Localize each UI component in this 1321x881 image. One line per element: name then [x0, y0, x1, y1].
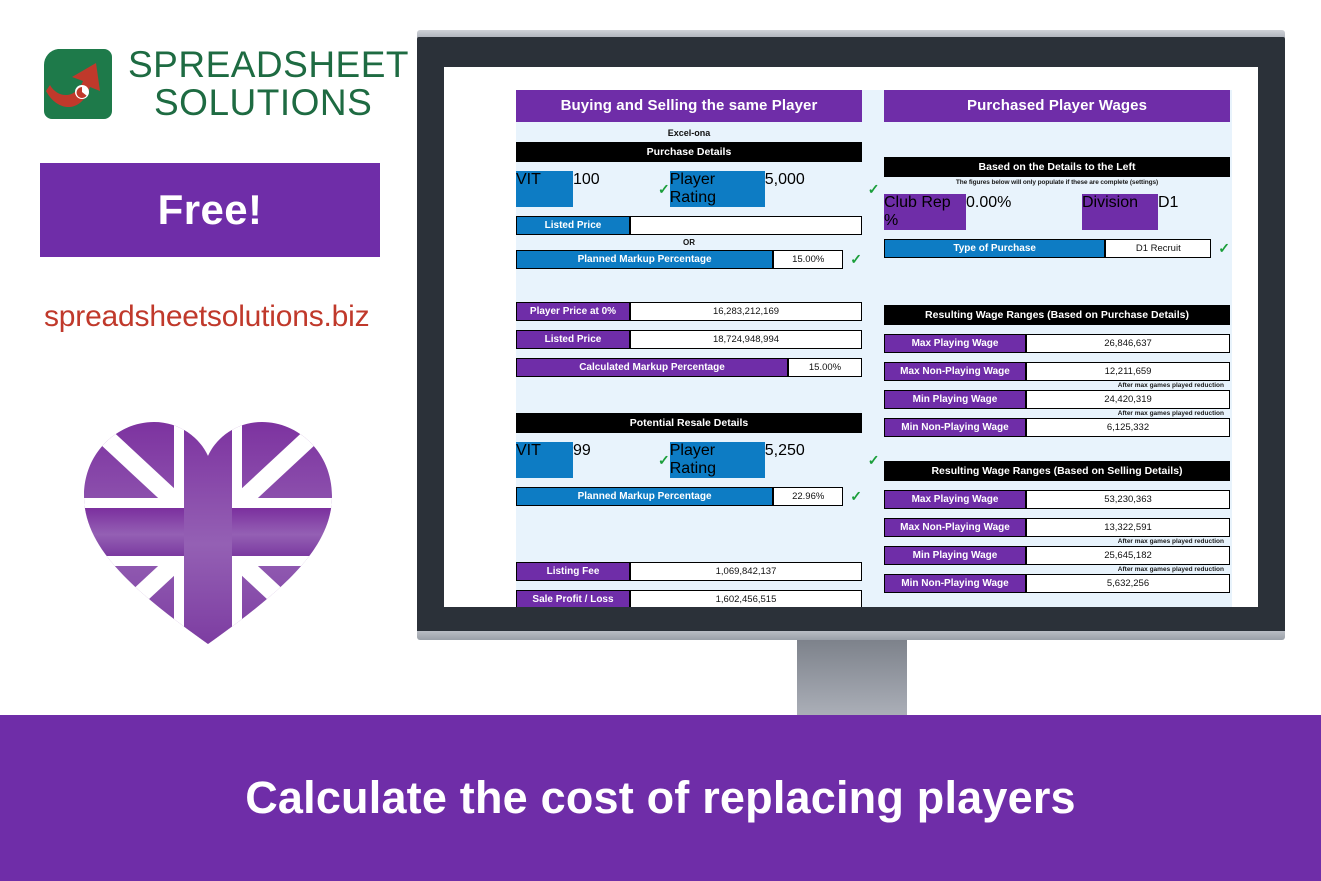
table-row: Min Playing Wage 24,420,319 [884, 390, 1230, 409]
resale-markup-label: Planned Markup Percentage [516, 487, 773, 506]
or-separator: OR [516, 235, 862, 248]
sell-min-playing-wage-value: 25,645,182 [1026, 546, 1230, 565]
bottom-banner: Calculate the cost of replacing players [0, 715, 1321, 881]
promo-column: SPREADSHEET SOLUTIONS Free! spreadsheets… [0, 0, 400, 715]
reduction-note: After max games played reduction [884, 409, 1230, 418]
type-of-purchase-check-icon: ✓ [1211, 239, 1230, 258]
sell-max-non-playing-wage-value: 13,322,591 [1026, 518, 1230, 537]
panel-purchased-player-wages: Purchased Player Wages Based on the Deta… [884, 90, 1230, 593]
sell-max-playing-wage-value: 53,230,363 [1026, 490, 1230, 509]
club-rep-value[interactable]: 0.00% [966, 194, 1035, 230]
max-playing-wage-label: Max Playing Wage [884, 334, 1026, 353]
left-panel-title: Buying and Selling the same Player [516, 90, 862, 122]
resale-vit-check-icon: ✓ [651, 442, 670, 478]
bottom-banner-headline: Calculate the cost of replacing players [245, 772, 1076, 824]
type-of-purchase-row: Type of Purchase D1 Recruit ✓ [884, 239, 1230, 258]
table-row: Max Playing Wage 53,230,363 [884, 490, 1230, 509]
max-non-playing-wage-label: Max Non-Playing Wage [884, 362, 1026, 381]
table-row: Max Playing Wage 26,846,637 [884, 334, 1230, 353]
listed-price-row: Listed Price [516, 216, 862, 235]
sell-max-non-playing-wage-label: Max Non-Playing Wage [884, 518, 1026, 537]
planned-markup-label: Planned Markup Percentage [516, 250, 773, 269]
player-rating-label: Player Rating [670, 171, 765, 207]
player-price-value: 16,283,212,169 [630, 302, 862, 321]
calculated-markup-value: 15.00% [788, 358, 862, 377]
monitor-bottom-edge [417, 631, 1285, 640]
planned-markup-value[interactable]: 15.00% [773, 250, 843, 269]
player-rating-value[interactable]: 5,000 [765, 171, 861, 207]
table-row: Max Non-Playing Wage 12,211,659 [884, 362, 1230, 381]
right-panel-title: Purchased Player Wages [884, 90, 1230, 122]
listing-fee-value: 1,069,842,137 [630, 562, 862, 581]
club-rep-division-row: Club Rep % 0.00% Division D1 [884, 194, 1230, 230]
player-rating-check-icon: ✓ [861, 171, 880, 207]
listing-fee-label: Listing Fee [516, 562, 630, 581]
listed-price-value[interactable] [630, 216, 862, 235]
purchase-wage-ranges-header: Resulting Wage Ranges (Based on Purchase… [884, 305, 1230, 325]
planned-markup-row: Planned Markup Percentage 15.00% ✓ [516, 250, 862, 269]
sell-min-non-playing-wage-value: 5,632,256 [1026, 574, 1230, 593]
listed-price-result-row: Listed Price 18,724,948,994 [516, 330, 862, 349]
brand-name-line2: SOLUTIONS [128, 84, 409, 122]
min-playing-wage-value: 24,420,319 [1026, 390, 1230, 409]
resale-vit-rating-row: VIT 99 ✓ Player Rating 5,250 ✓ [516, 442, 862, 478]
reduction-note: After max games played reduction [884, 537, 1230, 546]
resale-rating-value[interactable]: 5,250 [765, 442, 861, 478]
monitor: Buying and Selling the same Player Excel… [417, 30, 1285, 645]
planned-markup-check-icon: ✓ [843, 250, 862, 269]
vit-label: VIT [516, 171, 573, 207]
listed-price-result-label: Listed Price [516, 330, 630, 349]
min-non-playing-wage-value: 6,125,332 [1026, 418, 1230, 437]
spreadsheet: Buying and Selling the same Player Excel… [516, 90, 1232, 607]
purchase-vit-rating-row: VIT 100 ✓ Player Rating 5,000 ✓ [516, 171, 862, 207]
table-row: Min Non-Playing Wage 5,632,256 [884, 574, 1230, 593]
panel-buying-selling: Buying and Selling the same Player Excel… [516, 90, 862, 607]
resale-markup-check-icon: ✓ [843, 487, 862, 506]
sale-profit-label: Sale Profit / Loss [516, 590, 630, 607]
player-price-row: Player Price at 0% 16,283,212,169 [516, 302, 862, 321]
sale-profit-row: Sale Profit / Loss 1,602,456,515 [516, 590, 862, 607]
reduction-note: After max games played reduction [884, 381, 1230, 390]
calculated-markup-label: Calculated Markup Percentage [516, 358, 788, 377]
resale-vit-label: VIT [516, 442, 573, 478]
union-jack-heart-icon [78, 412, 338, 652]
populate-note: The figures below will only populate if … [884, 177, 1230, 187]
division-label: Division [1082, 194, 1158, 230]
resale-markup-value[interactable]: 22.96% [773, 487, 843, 506]
resale-vit-value[interactable]: 99 [573, 442, 651, 478]
listed-price-result-value: 18,724,948,994 [630, 330, 862, 349]
vit-check-icon: ✓ [651, 171, 670, 207]
table-row: Max Non-Playing Wage 13,322,591 [884, 518, 1230, 537]
division-value[interactable]: D1 [1158, 194, 1230, 230]
sell-min-playing-wage-label: Min Playing Wage [884, 546, 1026, 565]
vit-value[interactable]: 100 [573, 171, 651, 207]
table-row: Min Non-Playing Wage 6,125,332 [884, 418, 1230, 437]
based-on-details-header: Based on the Details to the Left [884, 157, 1230, 177]
selling-wage-ranges-header: Resulting Wage Ranges (Based on Selling … [884, 461, 1230, 481]
type-of-purchase-label: Type of Purchase [884, 239, 1105, 258]
max-playing-wage-value: 26,846,637 [1026, 334, 1230, 353]
reduction-note: After max games played reduction [884, 565, 1230, 574]
website-url[interactable]: spreadsheetsolutions.biz [44, 300, 384, 334]
listing-fee-row: Listing Fee 1,069,842,137 [516, 562, 862, 581]
sell-max-playing-wage-label: Max Playing Wage [884, 490, 1026, 509]
resale-details-header: Potential Resale Details [516, 413, 862, 433]
max-non-playing-wage-value: 12,211,659 [1026, 362, 1230, 381]
resale-markup-row: Planned Markup Percentage 22.96% ✓ [516, 487, 862, 506]
spreadsheet-solutions-logo-icon [42, 47, 114, 121]
type-of-purchase-value[interactable]: D1 Recruit [1105, 239, 1211, 258]
brand-logo: SPREADSHEET SOLUTIONS [42, 46, 409, 122]
table-row: Min Playing Wage 25,645,182 [884, 546, 1230, 565]
listed-price-label: Listed Price [516, 216, 630, 235]
free-label: Free! [158, 186, 263, 234]
player-price-label: Player Price at 0% [516, 302, 630, 321]
resale-rating-check-icon: ✓ [861, 442, 880, 478]
monitor-screen: Buying and Selling the same Player Excel… [444, 67, 1258, 607]
resale-rating-label: Player Rating [670, 442, 765, 478]
min-playing-wage-label: Min Playing Wage [884, 390, 1026, 409]
left-panel-subtitle: Excel-ona [516, 122, 862, 142]
free-banner: Free! [40, 163, 380, 257]
purchase-details-header: Purchase Details [516, 142, 862, 162]
sell-min-non-playing-wage-label: Min Non-Playing Wage [884, 574, 1026, 593]
brand-name-line1: SPREADSHEET [128, 44, 409, 85]
brand-name: SPREADSHEET SOLUTIONS [128, 46, 409, 122]
min-non-playing-wage-label: Min Non-Playing Wage [884, 418, 1026, 437]
club-rep-label: Club Rep % [884, 194, 966, 230]
calculated-markup-row: Calculated Markup Percentage 15.00% [516, 358, 862, 377]
sale-profit-value: 1,602,456,515 [630, 590, 862, 607]
